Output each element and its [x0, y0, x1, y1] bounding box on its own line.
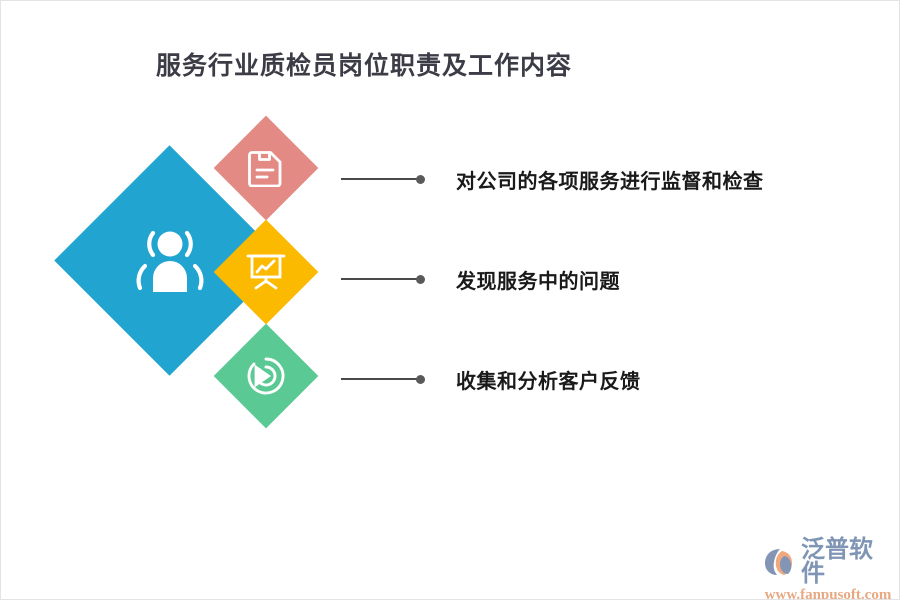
connector-dot — [416, 175, 425, 184]
connector-stroke — [341, 378, 417, 380]
brand-logo: 泛普软件 www.fanpusoft.com — [763, 538, 893, 592]
diamond-cluster — [71, 111, 341, 411]
item-row-3: 收集和分析客户反馈 — [341, 364, 641, 394]
connector-dot — [416, 375, 425, 384]
connector-stroke — [341, 278, 417, 280]
item-row-1: 对公司的各项服务进行监督和检查 — [341, 164, 764, 194]
page-title: 服务行业质检员岗位职责及工作内容 — [156, 46, 572, 82]
logo-name: 泛普软件 — [801, 538, 893, 586]
connector-line-2 — [341, 275, 425, 284]
logo-url: www.fanpusoft.com — [763, 587, 893, 600]
connector-line-3 — [341, 375, 425, 384]
item-label-2: 发现服务中的问题 — [456, 265, 620, 294]
connector-line-1 — [341, 175, 425, 184]
infographic-canvas: 服务行业质检员岗位职责及工作内容 — [0, 0, 900, 600]
item-label-3: 收集和分析客户反馈 — [456, 365, 641, 394]
item-row-2: 发现服务中的问题 — [341, 264, 620, 294]
connector-stroke — [341, 178, 417, 180]
item-label-1: 对公司的各项服务进行监督和检查 — [456, 165, 764, 194]
logo-row: 泛普软件 — [763, 538, 893, 586]
fanpu-swoosh-logo-icon — [763, 547, 799, 577]
connector-dot — [416, 275, 425, 284]
item-diamond-3 — [214, 324, 319, 429]
